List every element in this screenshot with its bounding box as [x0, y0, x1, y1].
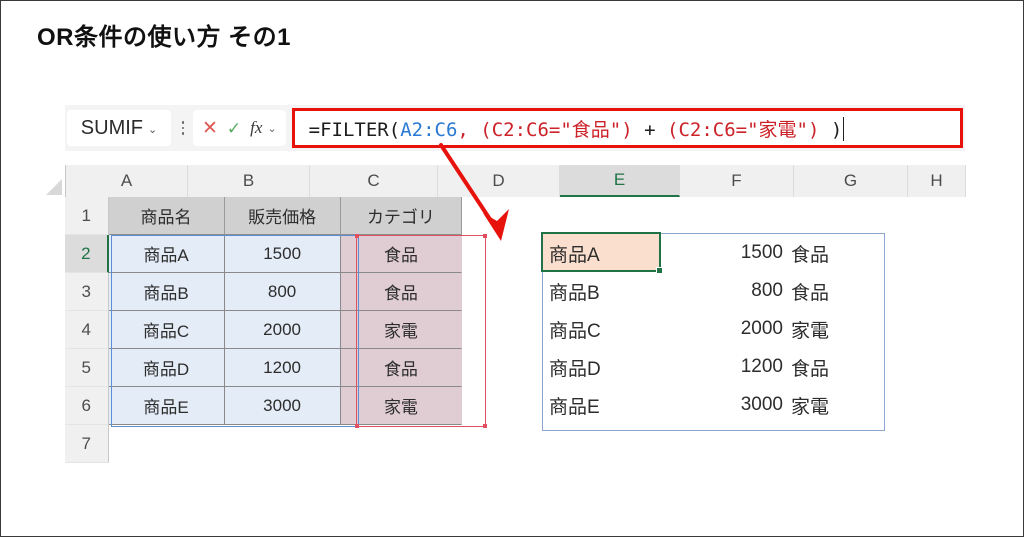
grid-cell[interactable]: 商品A: [109, 235, 225, 273]
grid-cell[interactable]: [909, 235, 965, 273]
spill-cell-name[interactable]: 商品E: [543, 392, 663, 419]
grid-cell[interactable]: [909, 273, 965, 311]
formula-bar: SUMIF ⌄ ✕ ✓ fx ⌄ =FILTER(A2:C6, (C2:C6="…: [65, 105, 965, 151]
formula-segment: (C2:C6="家電"): [667, 119, 819, 141]
column-header-b[interactable]: B: [188, 165, 310, 197]
enter-icon[interactable]: ✓: [227, 120, 241, 137]
insert-function-icon[interactable]: fx: [250, 118, 262, 138]
column-header-f[interactable]: F: [680, 165, 794, 197]
spill-cell-category[interactable]: 家電: [783, 316, 875, 343]
formula-segment: (C2:C6="食品"): [480, 119, 632, 141]
spill-cell-name[interactable]: 商品B: [543, 278, 663, 305]
column-header-c[interactable]: C: [310, 165, 438, 197]
grid-cell[interactable]: [909, 311, 965, 349]
row-header-2[interactable]: 2: [65, 235, 109, 273]
column-header-e[interactable]: E: [560, 165, 680, 197]
grid-cell[interactable]: [109, 425, 225, 463]
grid-cell[interactable]: 商品B: [109, 273, 225, 311]
grid-cell[interactable]: 家電: [341, 311, 463, 349]
grid-cell[interactable]: 家電: [341, 387, 463, 425]
grid-cell[interactable]: [909, 425, 965, 463]
spill-cell-category[interactable]: 食品: [783, 354, 875, 381]
text-caret: [843, 117, 844, 141]
grid-cell[interactable]: カテゴリ: [341, 197, 463, 235]
chevron-down-icon-fx[interactable]: ⌄: [267, 122, 276, 135]
more-options-icon[interactable]: [175, 110, 191, 146]
row-header-6[interactable]: 6: [65, 387, 109, 425]
fill-handle[interactable]: [656, 267, 663, 274]
grid-cell[interactable]: [909, 349, 965, 387]
grid-cell[interactable]: 商品E: [109, 387, 225, 425]
grid-cell[interactable]: 800: [225, 273, 341, 311]
grid-cell[interactable]: [692, 197, 800, 235]
spill-cell-price[interactable]: 2000: [663, 318, 783, 340]
formula-segment: =FILTER(: [309, 119, 401, 141]
formula-text: =FILTER(A2:C6, (C2:C6="食品") + (C2:C6="家電…: [295, 115, 845, 142]
formula-segment: A2:C6: [400, 119, 457, 141]
select-all-corner[interactable]: [65, 165, 66, 197]
active-cell-value: 商品A: [549, 240, 600, 267]
formula-segment: +: [633, 119, 667, 141]
spill-cell-name[interactable]: 商品D: [543, 354, 663, 381]
name-box[interactable]: SUMIF ⌄: [67, 110, 171, 146]
grid-cell[interactable]: [801, 197, 909, 235]
grid-cell[interactable]: [341, 425, 463, 463]
column-header-a[interactable]: A: [66, 165, 188, 197]
formula-segment: ): [819, 119, 842, 141]
grid-cell[interactable]: [909, 387, 965, 425]
spill-cell-price[interactable]: 3000: [663, 394, 783, 416]
row-header-3[interactable]: 3: [65, 273, 109, 311]
spill-cell-name[interactable]: 商品C: [543, 316, 663, 343]
column-header-h[interactable]: H: [908, 165, 966, 197]
page-title: OR条件の使い方 その1: [37, 17, 291, 52]
grid-cell[interactable]: 商品D: [109, 349, 225, 387]
grid-cell[interactable]: [909, 197, 965, 235]
cancel-icon[interactable]: ✕: [202, 119, 218, 138]
formula-input[interactable]: =FILTER(A2:C6, (C2:C6="食品") + (C2:C6="家電…: [292, 108, 963, 148]
table-row: 1商品名販売価格カテゴリ: [65, 197, 965, 235]
grid-cell[interactable]: 3000: [225, 387, 341, 425]
spill-cell-price[interactable]: 1200: [663, 356, 783, 378]
row-header-7[interactable]: 7: [65, 425, 109, 463]
grid-cell[interactable]: 商品名: [109, 197, 225, 235]
spill-cell-price[interactable]: 1500: [663, 242, 783, 264]
spill-cell-category[interactable]: 食品: [783, 278, 875, 305]
grid-cell[interactable]: 食品: [341, 349, 463, 387]
grid-cell[interactable]: 販売価格: [225, 197, 341, 235]
slide-canvas: OR条件の使い方 その1 SUMIF ⌄ ✕ ✓ fx ⌄ =FILTER(A2…: [1, 1, 1023, 536]
spill-cell-price[interactable]: 800: [663, 280, 783, 302]
grid-cell[interactable]: [578, 197, 692, 235]
formula-actions: ✕ ✓ fx ⌄: [193, 110, 286, 146]
row-header-1[interactable]: 1: [65, 197, 109, 235]
active-cell-e2[interactable]: 商品A: [541, 232, 661, 272]
grid-cell[interactable]: 2000: [225, 311, 341, 349]
spill-row[interactable]: 商品B800食品: [543, 272, 884, 310]
grid-cell[interactable]: 1500: [225, 235, 341, 273]
grid-cell[interactable]: 商品C: [109, 311, 225, 349]
grid-cell[interactable]: 食品: [341, 235, 463, 273]
name-box-value: SUMIF: [81, 117, 143, 140]
spill-row[interactable]: 商品C2000家電: [543, 310, 884, 348]
column-header-d[interactable]: D: [438, 165, 560, 197]
grid-cell[interactable]: 食品: [341, 273, 463, 311]
formula-segment: ,: [457, 119, 480, 141]
column-header-g[interactable]: G: [794, 165, 908, 197]
grid-cell[interactable]: 1200: [225, 349, 341, 387]
grid-cell[interactable]: [462, 197, 578, 235]
spill-cell-category[interactable]: 家電: [783, 392, 875, 419]
column-header-row: ABCDEFGH: [65, 165, 965, 197]
spill-row[interactable]: 商品E3000家電: [543, 386, 884, 424]
row-header-4[interactable]: 4: [65, 311, 109, 349]
spill-row[interactable]: 商品D1200食品: [543, 348, 884, 386]
chevron-down-icon[interactable]: ⌄: [148, 123, 157, 136]
spill-cell-category[interactable]: 食品: [783, 240, 875, 267]
row-header-5[interactable]: 5: [65, 349, 109, 387]
grid-cell[interactable]: [225, 425, 341, 463]
